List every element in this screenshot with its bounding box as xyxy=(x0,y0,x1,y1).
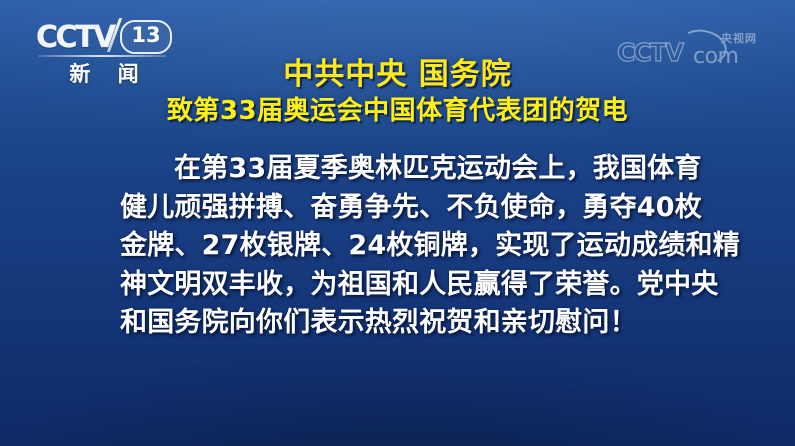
body-line: 和国务院向你们表示热烈祝贺和亲切慰问！ xyxy=(120,304,676,343)
cctv-wordmark: CCTV xyxy=(36,20,114,55)
body-line: 健儿顽强拼搏、奋勇争先、不负使命，勇夺40枚 xyxy=(120,189,676,228)
headline-block: 中共中央 国务院 致第33届奥运会中国体育代表团的贺电 xyxy=(0,57,795,127)
body-line: 金牌、27枚银牌、24枚铜牌，实现了运动成绩和精 xyxy=(120,227,676,266)
broadcast-graphic-screen: CCTV 13 新 闻 CCTV 央视网 com 中共中央 国务院 致第33届奥… xyxy=(0,0,795,446)
body-line: 在第33届夏季奥林匹克运动会上，我国体育 xyxy=(120,150,676,189)
headline-subtitle: 致第33届奥运会中国体育代表团的贺电 xyxy=(0,95,795,127)
body-line: 神文明双丰收，为祖国和人民赢得了荣誉。党中央 xyxy=(120,266,676,305)
cctv13-logo-mark: CCTV 13 xyxy=(34,22,174,54)
channel-number-badge: 13 xyxy=(120,20,172,54)
telegram-body-text: 在第33届夏季奥林匹克运动会上，我国体育 健儿顽强拼搏、奋勇争先、不负使命，勇夺… xyxy=(120,150,676,343)
headline-title: 中共中央 国务院 xyxy=(0,57,795,93)
